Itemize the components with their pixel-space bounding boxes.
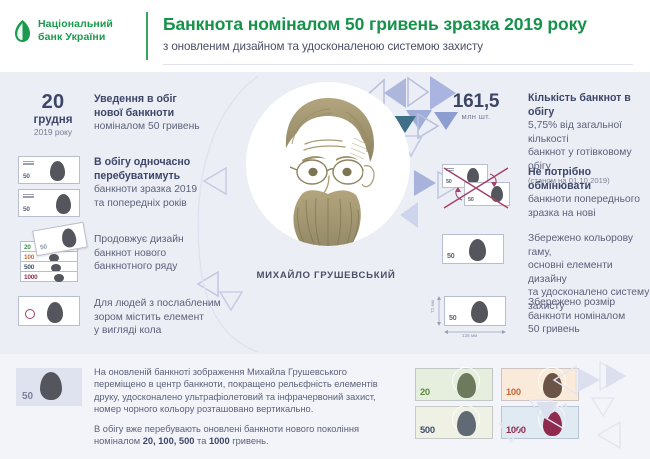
portrait-block: МИХАЙЛО ГРУШЕВСЬКИЙ — [236, 74, 416, 346]
denomination-note-1000: 1000 — [501, 406, 579, 439]
note-silhouette-20 — [457, 373, 476, 398]
accessibility-body-1: Для людей з послабленим — [94, 297, 239, 311]
quantity-body-1: 5,75% від загальної кількості — [528, 119, 650, 146]
bottom-panel: 50 На оновленій банкноті зображення Миха… — [0, 354, 650, 459]
bottom-paragraph-1: На оновленій банкноті зображення Михайла… — [94, 366, 394, 416]
intro-head-1: Уведення в обіг — [94, 93, 214, 107]
size-body-3: 50 гривень — [528, 323, 650, 337]
circulation-body-2: та попередніх років — [94, 197, 239, 211]
nbu-logo: Національний банк України — [14, 18, 113, 43]
denomination-note-100: 100 — [501, 368, 579, 401]
denomination-label-1000: 1000 — [506, 424, 526, 435]
banknote-50-icon: 50 — [16, 368, 82, 406]
circulation-head-1: В обігу одночасно — [94, 156, 239, 170]
bottom-paragraphs: На оновленій банкноті зображення Михайла… — [94, 366, 394, 454]
design-series-body-2: банкнот нового — [94, 247, 224, 261]
colors-body-1: Збережено кольорову гаму, — [528, 232, 650, 259]
portrait-caption: МИХАЙЛО ГРУШЕВСЬКИЙ — [236, 270, 416, 281]
header-rule — [163, 64, 633, 65]
denomination-label-500: 500 — [420, 424, 435, 435]
date-month: грудня — [18, 113, 88, 127]
design-series-body-3: банкнотного ряду — [94, 260, 224, 274]
logo-line-2: банк України — [38, 31, 105, 43]
body-section: МИХАЙЛО ГРУШЕВСЬКИЙ 20 грудня 2019 року … — [0, 72, 650, 354]
logo-line-1: Національний — [38, 18, 113, 30]
bp2-post: гривень. — [230, 436, 269, 446]
bp2-bold2: 1000 — [209, 436, 230, 446]
nbu-viburnum-leaf-logo-icon — [14, 19, 31, 43]
denomination-label-20: 20 — [420, 386, 430, 397]
quantity-value: 161,5 — [437, 92, 515, 112]
note-silhouette-500 — [457, 411, 476, 436]
design-series-body-1: Продовжує дизайн — [94, 233, 224, 247]
no-exchange-body-2: зразка на нові — [528, 207, 650, 221]
page-subtitle: з оновленим дизайном та удосконаленою си… — [163, 40, 483, 53]
denomination-note-500: 500 — [415, 406, 493, 439]
bp2-bold1: 20, 100, 500 — [143, 436, 195, 446]
denomination-note-20: 20 — [415, 368, 493, 401]
accessibility-body-3: у вигляді кола — [94, 324, 239, 338]
circulation-body-1: банкноти зразка 2019 — [94, 183, 239, 197]
note-silhouette-1000 — [543, 411, 562, 436]
header: Національний банк України Банкнота номін… — [0, 0, 650, 72]
date-year: 2019 року — [18, 127, 88, 138]
no-exchange-body-1: банкноти попереднього — [528, 193, 650, 207]
size-body-1: Збережено розмір — [528, 296, 650, 310]
dimension-width-label: 136 мм — [462, 333, 477, 338]
page-title: Банкнота номіналом 50 гривень зразка 201… — [163, 14, 587, 35]
quantity-unit: млн шт. — [437, 112, 515, 122]
circulation-head-2: перебуватимуть — [94, 170, 239, 184]
size-body-2: банкноти номіналом — [528, 310, 650, 324]
infographic-page: Національний банк України Банкнота номін… — [0, 0, 650, 459]
banknote-dimensions-icon: 50 72 мм 136 мм — [432, 294, 518, 338]
nbu-logo-text: Національний банк України — [38, 18, 113, 43]
denomination-label-100: 100 — [506, 386, 521, 397]
banknote-circle-element-icon — [18, 296, 86, 328]
intro-body: номіналом 50 гривень — [94, 120, 214, 134]
bottom-paragraph-2: В обігу вже перебувають оновлені банкнот… — [94, 423, 394, 448]
quantity-head: Кількість банкнот в обігу — [528, 92, 650, 119]
banknote-stack-icon: 20 100 500 1000 50 — [18, 227, 90, 285]
two-banknotes-icon: 50 50 — [18, 156, 86, 218]
bottom-denomination-label: 50 — [22, 391, 33, 402]
banknote-icon: 50 — [442, 234, 510, 266]
colors-body-2: основні елементи дизайну — [528, 259, 650, 286]
date-day: 20 — [18, 92, 88, 113]
hrushevskyi-portrait-engraving-icon — [246, 82, 410, 266]
note-silhouette-100 — [543, 373, 562, 398]
dimension-height-label: 72 мм — [430, 300, 435, 313]
no-exchange-head: Не потрібно обмінювати — [528, 166, 650, 193]
denominations-grid: 20 100 500 1000 — [415, 368, 585, 440]
accessibility-body-2: зором містить елемент — [94, 311, 239, 325]
header-divider — [146, 12, 148, 60]
crossed-banknote-exchange-icon: 50 50 — [442, 164, 516, 212]
bp2-mid: та — [194, 436, 209, 446]
intro-head-2: нової банкноти — [94, 107, 214, 121]
